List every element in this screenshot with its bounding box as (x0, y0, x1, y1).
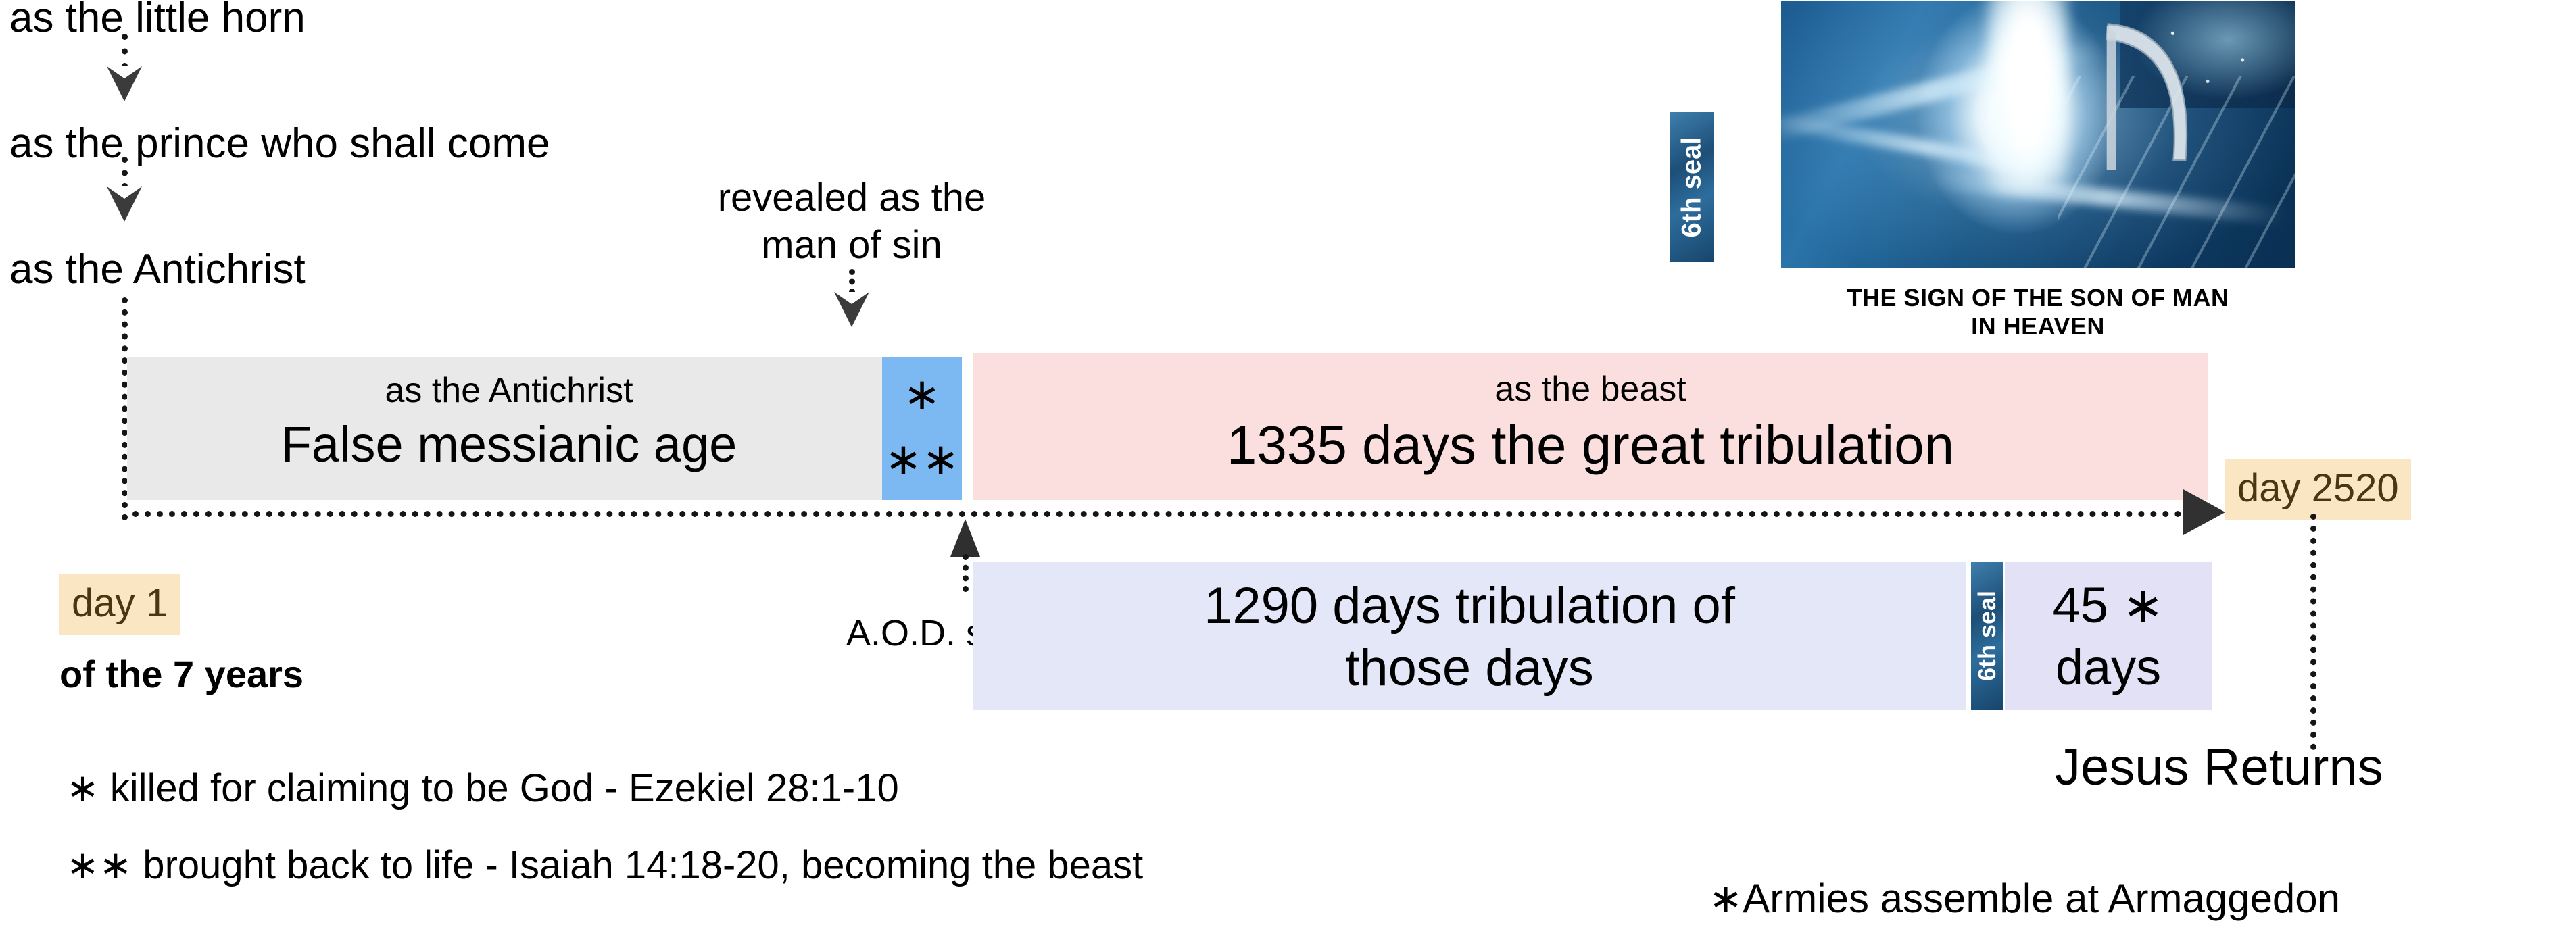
light-core-icon (1987, 1, 2069, 193)
arrow-notch-2 (107, 186, 142, 199)
label-of-the-7-years: of the 7 years (59, 655, 303, 693)
label-antichrist: as the Antichrist (9, 249, 306, 291)
footnote-one: ∗ killed for claiming to be God - Ezekie… (66, 769, 899, 808)
segment-45-line2: days (2005, 642, 2212, 693)
end-marker-dots (2310, 514, 2316, 750)
aod-connector-dots (963, 554, 969, 592)
segment-star-top: ∗ (882, 372, 962, 416)
scythe-icon (2089, 18, 2223, 183)
timeline-axis-dots (132, 511, 2218, 517)
seal-badge-picture: 6th seal (1670, 112, 1714, 262)
picture-caption-line2: IN HEAVEN (1781, 312, 2295, 341)
arrow-notch-revealed (834, 292, 869, 304)
label-revealed-line1: revealed as the (676, 178, 1027, 218)
timeline-arrow-right-icon (2183, 489, 2225, 535)
label-armies-armaggedon: ∗Armies assemble at Armaggedon (1709, 878, 2340, 919)
label-jesus-returns: Jesus Returns (2055, 742, 2383, 793)
segment-gray-title: False messianic age (127, 419, 891, 470)
seal-badge-timeline-label: 6th seal (1973, 591, 2001, 681)
arrow-notch-1 (107, 66, 142, 78)
segment-1290-line1: 1290 days tribulation of (973, 580, 1966, 632)
segment-pink-caption: as the beast (973, 372, 2208, 407)
label-revealed-line2: man of sin (676, 226, 1027, 265)
segment-45-days[interactable]: 45 ∗ days (2005, 562, 2212, 709)
segment-death-resurrection[interactable]: ∗ ∗∗ (882, 357, 962, 500)
segment-false-messianic-age[interactable]: as the Antichrist False messianic age (127, 357, 891, 500)
pill-day-2520[interactable]: day 2520 (2225, 459, 2411, 520)
seal-badge-timeline: 6th seal (1971, 562, 2003, 709)
seal-badge-picture-label: 6th seal (1677, 137, 1707, 238)
segment-gray-caption: as the Antichrist (127, 373, 891, 408)
pill-day-1[interactable]: day 1 (59, 574, 180, 635)
arrow-up-icon-aod (950, 519, 980, 557)
segment-45-line1: 45 ∗ (2005, 580, 2212, 630)
label-prince: as the prince who shall come (9, 123, 550, 165)
picture-caption-line1: THE SIGN OF THE SON OF MAN (1781, 284, 2295, 312)
sign-of-son-of-man-image (1781, 1, 2295, 268)
footnote-two: ∗∗ brought back to life - Isaiah 14:18-2… (66, 846, 1143, 885)
connector-dots-revealed (849, 269, 855, 295)
segment-great-tribulation[interactable]: as the beast 1335 days the great tribula… (973, 353, 2208, 500)
segment-1290-line2: those days (973, 642, 1966, 695)
segment-1290-days[interactable]: 1290 days tribulation of those days (973, 562, 1966, 709)
connector-dots-2 (122, 157, 128, 189)
connector-dots-1 (122, 34, 128, 69)
segment-pink-title: 1335 days the great tribulation (973, 418, 2208, 473)
segment-star-bottom: ∗∗ (882, 437, 962, 481)
label-little-horn: as the little horn (9, 0, 306, 39)
